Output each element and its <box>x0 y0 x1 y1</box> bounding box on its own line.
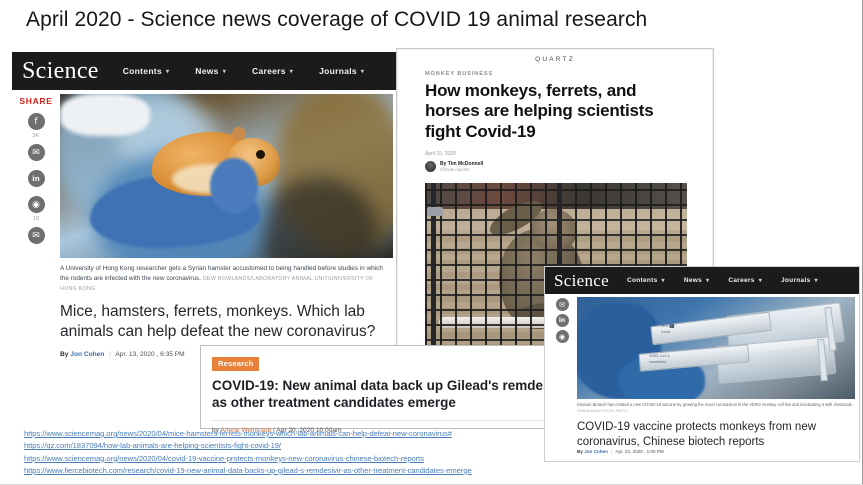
article-kicker: MONKEY BUSINESS <box>425 71 687 77</box>
avatar <box>425 161 436 172</box>
cage-latch <box>427 207 443 216</box>
hero-block: A University of Hong Kong researcher get… <box>60 94 393 358</box>
article-headline[interactable]: COVID-19: New animal data back up Gilead… <box>212 377 571 412</box>
nav-item-journals[interactable]: Journals ▾ <box>319 66 364 76</box>
fiercebiotech-article: Research COVID-19: New animal data back … <box>200 345 583 429</box>
photo-credit: XINHUA/ALAMY STOCK PHOTO <box>577 409 628 413</box>
hamster-photo <box>60 94 393 258</box>
nav-label: Journals <box>781 277 811 284</box>
byline-prefix: By <box>60 351 68 358</box>
nav-item-careers[interactable]: Careers ▾ <box>728 277 762 284</box>
vial-label: Vero ██ <box>661 324 674 328</box>
share-label: SHARE <box>19 96 52 106</box>
nav-item-journals[interactable]: Journals ▾ <box>781 277 818 284</box>
science-navbar: Science Contents ▾ News ▾ Careers ▾ Jour… <box>12 52 397 90</box>
nav-label: News <box>195 66 218 76</box>
byline-role: Climate reporter <box>440 167 483 172</box>
article-headline[interactable]: How monkeys, ferrets, and horses are hel… <box>425 81 687 142</box>
nav-label: Contents <box>627 277 658 284</box>
nav-label: Contents <box>123 66 162 76</box>
chevron-down-icon: ▾ <box>166 68 169 75</box>
byline-author[interactable]: Jon Cohen <box>70 351 104 358</box>
article-headline[interactable]: Mice, hamsters, ferrets, monkeys. Which … <box>60 302 393 342</box>
reddit-share-count: 10 <box>33 216 40 222</box>
page-title: April 2020 - Science news coverage of CO… <box>26 8 647 32</box>
facebook-share-count: 3K <box>32 133 39 139</box>
vial-label: Covid <box>661 330 670 334</box>
source-links: https://www.sciencemag.org/news/2020/04/… <box>24 428 472 477</box>
chevron-down-icon: ▾ <box>290 68 293 75</box>
nav-label: Careers <box>252 66 286 76</box>
vial-label: inactivated <box>649 360 666 364</box>
chevron-down-icon: ▾ <box>361 68 364 75</box>
article-body: ✉ in ◉ Vero ██ Covid SARS-CoV-2 inactiva… <box>545 294 859 462</box>
photo-caption: Sinovac Biotech has created a new COVID-… <box>577 402 853 415</box>
twitter-icon[interactable]: ✉ <box>28 144 45 161</box>
caption-text: Sinovac Biotech has created a new COVID-… <box>577 402 853 407</box>
nav-label: Careers <box>728 277 754 284</box>
science-article-vaccine: Science Contents ▾ News ▾ Careers ▾ Jour… <box>544 266 860 462</box>
chevron-down-icon: ▾ <box>759 277 762 284</box>
vial-label: SARS-CoV-2 <box>649 354 670 358</box>
quartz-logo: QUARTZ <box>397 49 713 67</box>
nav-item-contents[interactable]: Contents ▾ <box>123 66 170 76</box>
nav-label: Journals <box>319 66 357 76</box>
chevron-down-icon: ▾ <box>223 68 226 75</box>
linkedin-icon[interactable]: in <box>556 314 569 327</box>
photo-caption: A University of Hong Kong researcher get… <box>60 258 393 294</box>
nav-item-careers[interactable]: Careers ▾ <box>252 66 293 76</box>
source-link[interactable]: https://qz.com/1837094/how-lab-animals-a… <box>24 440 472 452</box>
article-headline[interactable]: COVID-19 vaccine protects monkeys from n… <box>577 420 853 451</box>
article-byline: By Jon Cohen | Apr. 23, 2020 , 1:05 PM <box>577 449 664 454</box>
source-link[interactable]: https://www.fiercebiotech.com/research/c… <box>24 465 472 477</box>
lab-coat-cuff <box>60 94 150 136</box>
nav-label: News <box>684 277 702 284</box>
reddit-icon[interactable]: ◉ <box>28 196 45 213</box>
science-logo: Science <box>554 272 609 289</box>
article-body: SHARE f 3K ✉ in ◉ 10 ✉ <box>12 90 397 369</box>
source-link[interactable]: https://www.sciencemag.org/news/2020/04/… <box>24 428 472 440</box>
science-navbar: Science Contents ▾ News ▾ Careers ▾ Jour… <box>545 267 859 294</box>
twitter-icon[interactable]: ✉ <box>556 298 569 311</box>
chevron-down-icon: ▾ <box>706 277 709 284</box>
nav-item-news[interactable]: News ▾ <box>195 66 226 76</box>
share-sidebar: SHARE f 3K ✉ in ◉ 10 ✉ <box>12 96 60 247</box>
vaccine-syringe-photo: Vero ██ Covid SARS-CoV-2 inactivated <box>577 297 855 399</box>
facebook-icon[interactable]: f <box>28 113 45 130</box>
status-badge[interactable]: Research <box>212 357 259 371</box>
gloved-thumb <box>210 158 258 214</box>
linkedin-icon[interactable]: in <box>28 170 45 187</box>
slide-canvas: April 2020 - Science news coverage of CO… <box>0 0 863 485</box>
science-nav-items: Contents ▾ News ▾ Careers ▾ Journals ▾ <box>627 277 818 284</box>
article-byline: By Tim McDonnell Climate reporter <box>425 161 687 173</box>
byline-separator: | <box>611 449 612 454</box>
byline-timestamp: Apr. 13, 2020 , 6:35 PM <box>115 351 184 358</box>
chevron-down-icon: ▾ <box>815 277 818 284</box>
chevron-down-icon: ▾ <box>662 277 665 284</box>
nav-item-news[interactable]: News ▾ <box>684 277 710 284</box>
byline-prefix: By <box>577 449 583 454</box>
byline-timestamp: Apr. 23, 2020 , 1:05 PM <box>615 449 663 454</box>
nav-item-contents[interactable]: Contents ▾ <box>627 277 665 284</box>
hamster-eye <box>256 150 265 159</box>
quartz-header: MONKEY BUSINESS How monkeys, ferrets, an… <box>397 67 713 173</box>
share-sidebar: ✉ in ◉ <box>547 298 577 346</box>
email-icon[interactable]: ✉ <box>28 227 45 244</box>
reddit-icon[interactable]: ◉ <box>556 330 569 343</box>
byline-separator: | <box>109 351 111 358</box>
byline-text: By Tim McDonnell Climate reporter <box>440 161 483 173</box>
article-date: April 15, 2020 <box>425 151 687 157</box>
science-logo: Science <box>22 59 99 83</box>
science-article-hamsters: Science Contents ▾ News ▾ Careers ▾ Jour… <box>12 52 397 369</box>
hamster-ear <box>232 127 246 140</box>
source-link[interactable]: https://www.sciencemag.org/news/2020/04/… <box>24 453 472 465</box>
science-nav-items: Contents ▾ News ▾ Careers ▾ Journals ▾ <box>123 66 364 76</box>
byline-author[interactable]: Jon Cohen <box>584 449 608 454</box>
